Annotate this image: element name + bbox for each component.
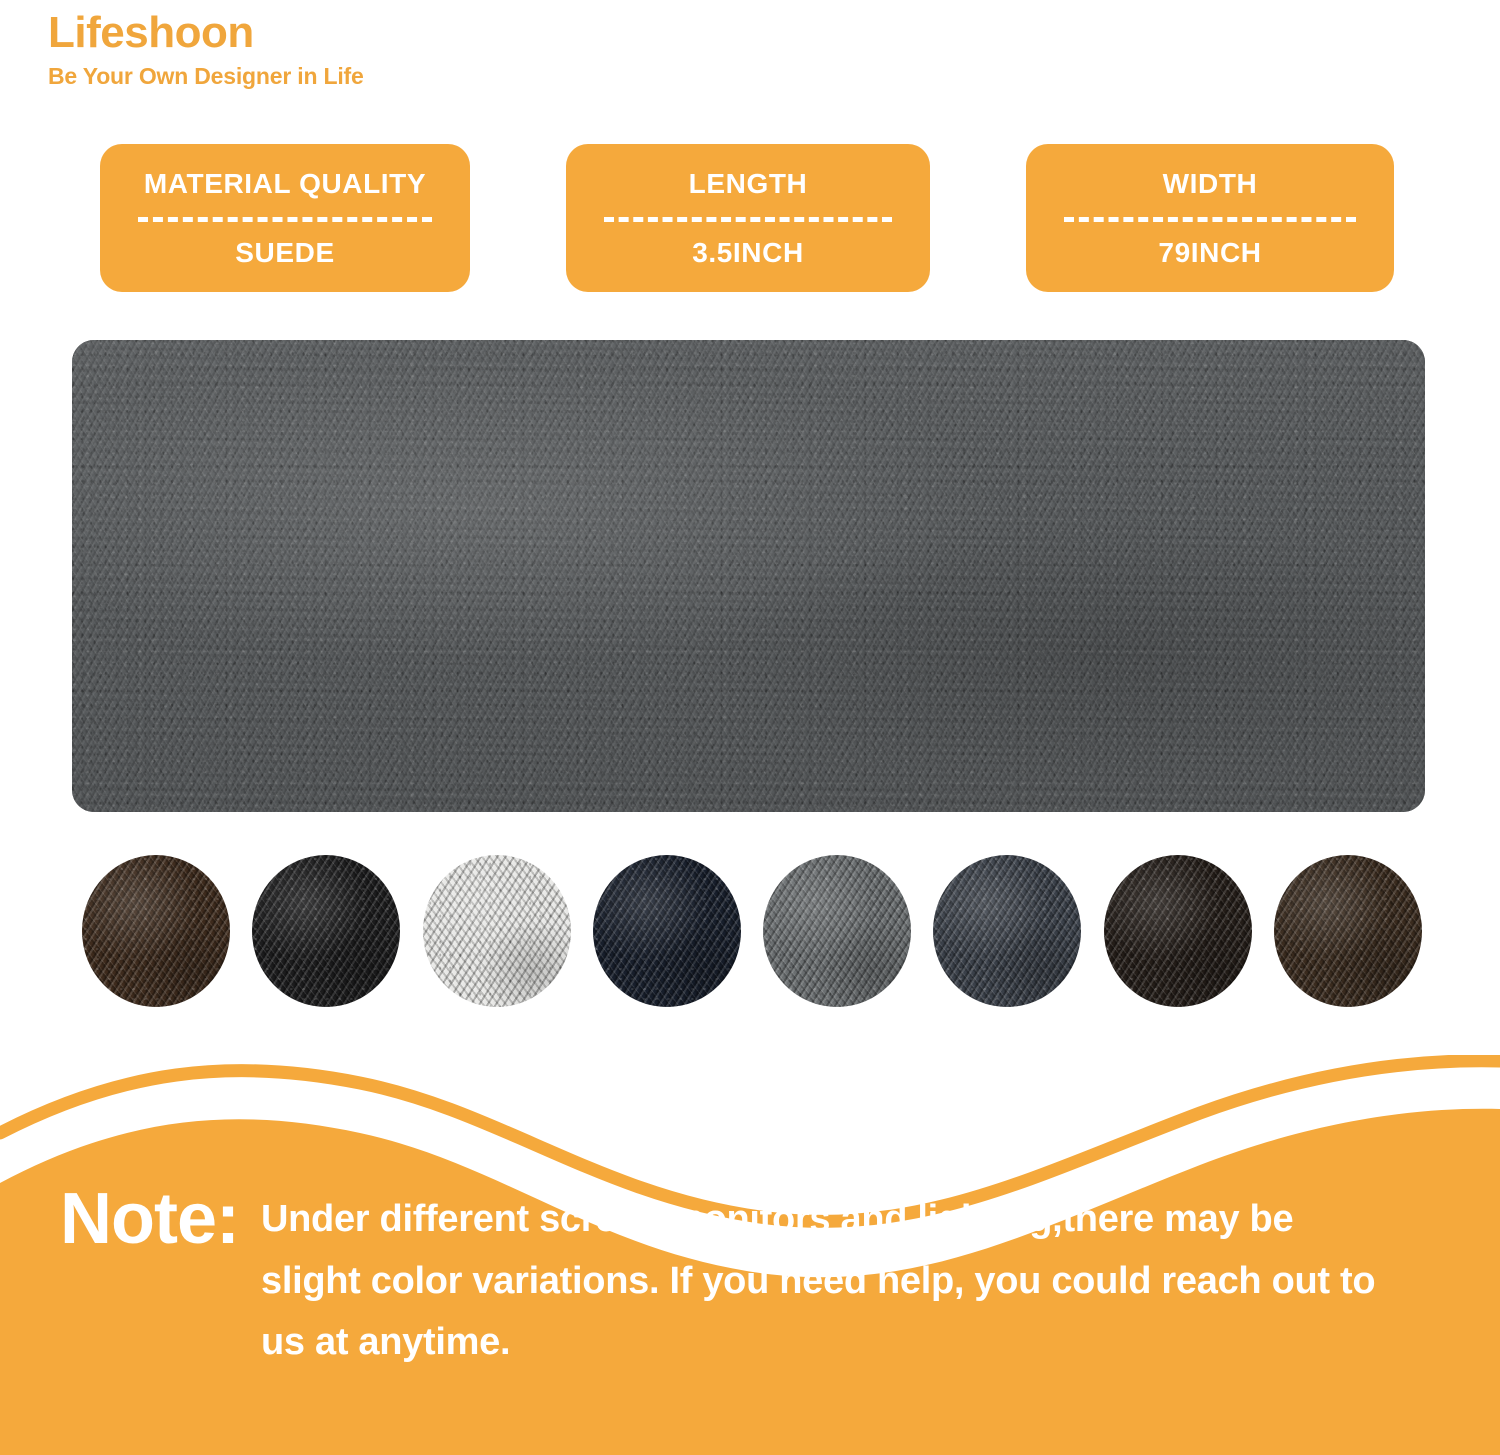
product-sheen — [72, 340, 1425, 812]
color-swatch-row — [82, 855, 1422, 1007]
dashed-divider — [138, 217, 432, 222]
swatch-sheen — [763, 855, 911, 1007]
note-heading: Note: — [60, 1183, 239, 1255]
swatch-sheen — [593, 855, 741, 1007]
swatch-sheen — [252, 855, 400, 1007]
spec-value: 79INCH — [1158, 239, 1261, 267]
product-photo — [72, 340, 1425, 812]
spec-badge-row: MATERIAL QUALITY SUEDE LENGTH 3.5INCH WI… — [100, 144, 1400, 292]
spec-badge-length: LENGTH 3.5INCH — [566, 144, 930, 292]
color-swatch-charcoal-blue[interactable] — [933, 855, 1081, 1007]
swatch-sheen — [423, 855, 571, 1007]
spec-value: SUEDE — [235, 239, 334, 267]
spec-label: WIDTH — [1163, 170, 1258, 198]
spec-badge-material-quality: MATERIAL QUALITY SUEDE — [100, 144, 470, 292]
color-swatch-chocolate-brown[interactable] — [1274, 855, 1422, 1007]
spec-value: 3.5INCH — [692, 239, 804, 267]
brand-tagline: Be Your Own Designer in Life — [48, 63, 848, 90]
color-swatch-dark-brown[interactable] — [82, 855, 230, 1007]
swatch-sheen — [1274, 855, 1422, 1007]
spec-label: MATERIAL QUALITY — [144, 170, 426, 198]
swatch-sheen — [82, 855, 230, 1007]
note-block: Note: Under different screen monitors an… — [0, 1175, 1500, 1455]
swatch-sheen — [933, 855, 1081, 1007]
color-swatch-cream-white[interactable] — [423, 855, 571, 1007]
product-infographic: Lifeshoon Be Your Own Designer in Life M… — [0, 0, 1500, 1455]
color-swatch-espresso[interactable] — [1104, 855, 1252, 1007]
spec-badge-width: WIDTH 79INCH — [1026, 144, 1394, 292]
dashed-divider — [1064, 217, 1356, 222]
brand-name: Lifeshoon — [48, 8, 848, 59]
brand-header: Lifeshoon Be Your Own Designer in Life — [48, 8, 848, 90]
note-body: Under different screen monitors and ligh… — [261, 1189, 1391, 1374]
color-swatch-black[interactable] — [252, 855, 400, 1007]
dashed-divider — [604, 217, 893, 222]
color-swatch-medium-gray[interactable] — [763, 855, 911, 1007]
color-swatch-navy[interactable] — [593, 855, 741, 1007]
swatch-sheen — [1104, 855, 1252, 1007]
spec-label: LENGTH — [689, 170, 808, 198]
